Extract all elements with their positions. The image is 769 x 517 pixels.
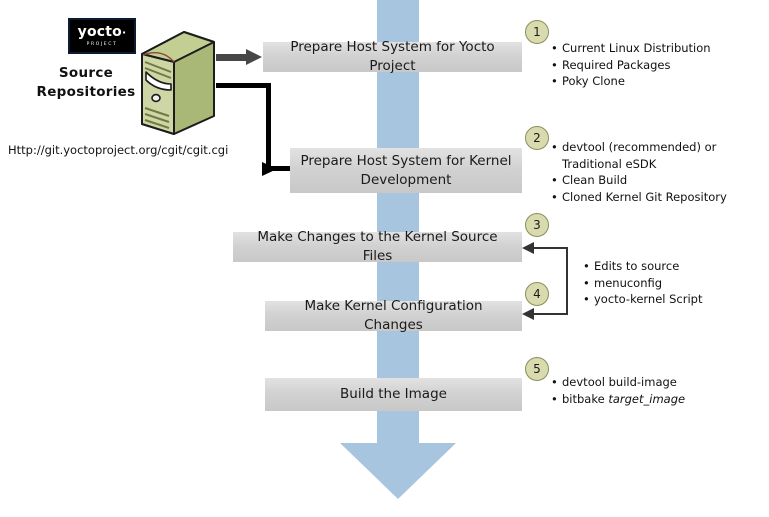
step-badge-5: 5 xyxy=(525,357,549,381)
notes-step-5: devtool build-image bitbake target_image xyxy=(551,374,763,407)
arrow-source-to-step2-head-icon xyxy=(262,162,277,176)
feedback-bracket-bottom-segment xyxy=(531,313,567,315)
note-item: menuconfig xyxy=(583,275,763,292)
notes-step-2: devtool (recommended) or Traditional eSD… xyxy=(551,139,763,205)
flow-arrow-head-icon xyxy=(340,443,456,499)
feedback-arrow-to-step3-head-icon xyxy=(522,242,534,254)
note-item: devtool (recommended) or Traditional eSD… xyxy=(551,139,763,172)
arrow-source-to-step2-segment-h1 xyxy=(216,83,271,88)
step-badge-3: 3 xyxy=(525,213,549,237)
arrow-source-to-step1-head-icon xyxy=(246,49,262,65)
process-box-step-3[interactable]: Make Changes to the Kernel Source Files xyxy=(233,232,522,262)
arrow-source-to-step2-segment-v xyxy=(266,83,271,171)
yocto-logo-word-text: yocto xyxy=(78,24,122,40)
note-item: Required Packages xyxy=(551,57,763,74)
feedback-bracket-vertical xyxy=(566,247,568,315)
yocto-logo-subtext: PROJECT xyxy=(87,41,118,48)
notes-steps-3-and-4: Edits to source menuconfig yocto-kernel … xyxy=(583,258,763,308)
server-tower-icon xyxy=(136,28,218,138)
yocto-logo-dot: · xyxy=(122,26,126,39)
note-item: Edits to source xyxy=(583,258,763,275)
feedback-bracket-top-segment xyxy=(531,247,567,249)
note-item: devtool build-image xyxy=(551,374,763,391)
step-badge-2: 2 xyxy=(525,126,549,150)
source-repositories-label: Source Repositories xyxy=(30,64,142,102)
note-item: Cloned Kernel Git Repository xyxy=(551,189,763,206)
note-item: Clean Build xyxy=(551,172,763,189)
source-repositories-url: Http://git.yoctoproject.org/cgit/cgit.cg… xyxy=(8,143,228,157)
diagram-canvas: yocto· PROJECT Source Repositories Http:… xyxy=(0,0,769,517)
step-badge-4: 4 xyxy=(525,282,549,306)
yocto-project-logo: yocto· PROJECT xyxy=(68,18,136,54)
step-badge-1: 1 xyxy=(525,20,549,44)
feedback-arrow-to-step4-head-icon xyxy=(522,308,534,320)
process-box-step-5[interactable]: Build the Image xyxy=(265,378,522,411)
note-item: yocto-kernel Script xyxy=(583,291,763,308)
note-item: Poky Clone xyxy=(551,73,763,90)
notes-step-1: Current Linux Distribution Required Pack… xyxy=(551,40,763,90)
note-command-target: target_image xyxy=(608,392,685,406)
process-box-step-1[interactable]: Prepare Host System for Yocto Project xyxy=(263,42,522,72)
note-command-prefix: bitbake xyxy=(562,392,608,406)
process-box-step-4[interactable]: Make Kernel Configuration Changes xyxy=(265,301,522,331)
yocto-logo-wordmark: yocto· xyxy=(78,25,127,40)
note-item: bitbake target_image xyxy=(551,391,763,408)
process-box-step-2[interactable]: Prepare Host System for Kernel Developme… xyxy=(290,148,522,193)
note-item: Current Linux Distribution xyxy=(551,40,763,57)
